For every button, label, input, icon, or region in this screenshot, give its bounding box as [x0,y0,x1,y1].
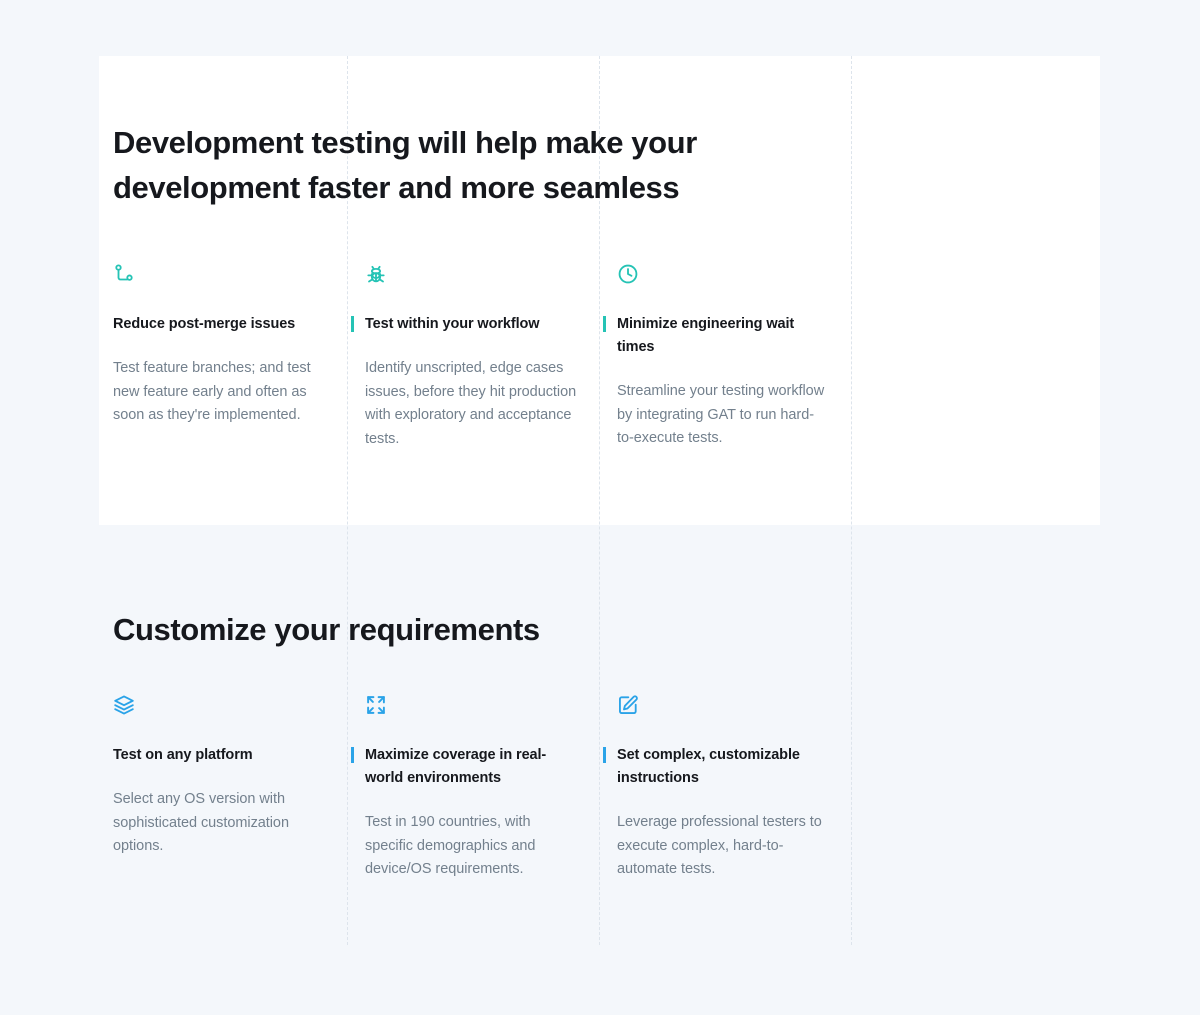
feature-body: Test in 190 countries, with specific dem… [365,811,577,882]
feature-column-test-within-your-workflow: Test within your workflow Identify unscr… [365,263,617,451]
feature-heading: Reduce post-merge issues [113,313,325,336]
feature-body: Leverage professional testers to execute… [617,811,829,882]
git-branch-icon [113,263,325,293]
feature-body: Test feature branches; and test new feat… [113,357,325,428]
feature-column-minimize-engineering-wait-times: Minimize engineering wait times Streamli… [617,263,869,451]
accent-bar [351,316,354,332]
feature-heading: Minimize engineering wait times [617,313,829,359]
page-title: Development testing will help make your … [113,120,803,210]
accent-bar [603,316,606,332]
feature-heading-text: Maximize coverage in real-world environm… [365,747,546,786]
maximize-icon [365,694,577,724]
feature-heading-text: Minimize engineering wait times [617,316,794,355]
feature-columns-customize: Test on any platform Select any OS versi… [113,694,1093,882]
feature-heading-text: Test on any platform [113,747,253,763]
feature-heading: Maximize coverage in real-world environm… [365,744,577,790]
bug-icon [365,263,577,293]
accent-bar [351,747,354,763]
feature-heading-text: Test within your workflow [365,316,539,332]
accent-bar [603,747,606,763]
section-development-testing: Development testing will help make your … [113,120,1093,451]
feature-column-set-complex-instructions: Set complex, customizable instructions L… [617,694,869,882]
feature-body: Select any OS version with sophisticated… [113,788,325,859]
edit-square-icon [617,694,829,724]
feature-heading: Test within your workflow [365,313,577,336]
feature-heading-text: Set complex, customizable instructions [617,747,800,786]
section-customize-requirements: Customize your requirements Test on any … [113,607,1093,882]
section-title-customize: Customize your requirements [113,607,753,652]
feature-column-maximize-coverage: Maximize coverage in real-world environm… [365,694,617,882]
feature-column-test-on-any-platform: Test on any platform Select any OS versi… [113,694,365,882]
feature-heading: Test on any platform [113,744,325,767]
feature-columns-development: Reduce post-merge issues Test feature br… [113,263,1093,451]
layers-icon [113,694,325,724]
clock-icon [617,263,829,293]
feature-body: Identify unscripted, edge cases issues, … [365,357,577,451]
feature-heading-text: Reduce post-merge issues [113,316,295,332]
feature-body: Streamline your testing workflow by inte… [617,380,829,451]
feature-heading: Set complex, customizable instructions [617,744,829,790]
feature-column-reduce-post-merge-issues: Reduce post-merge issues Test feature br… [113,263,365,451]
